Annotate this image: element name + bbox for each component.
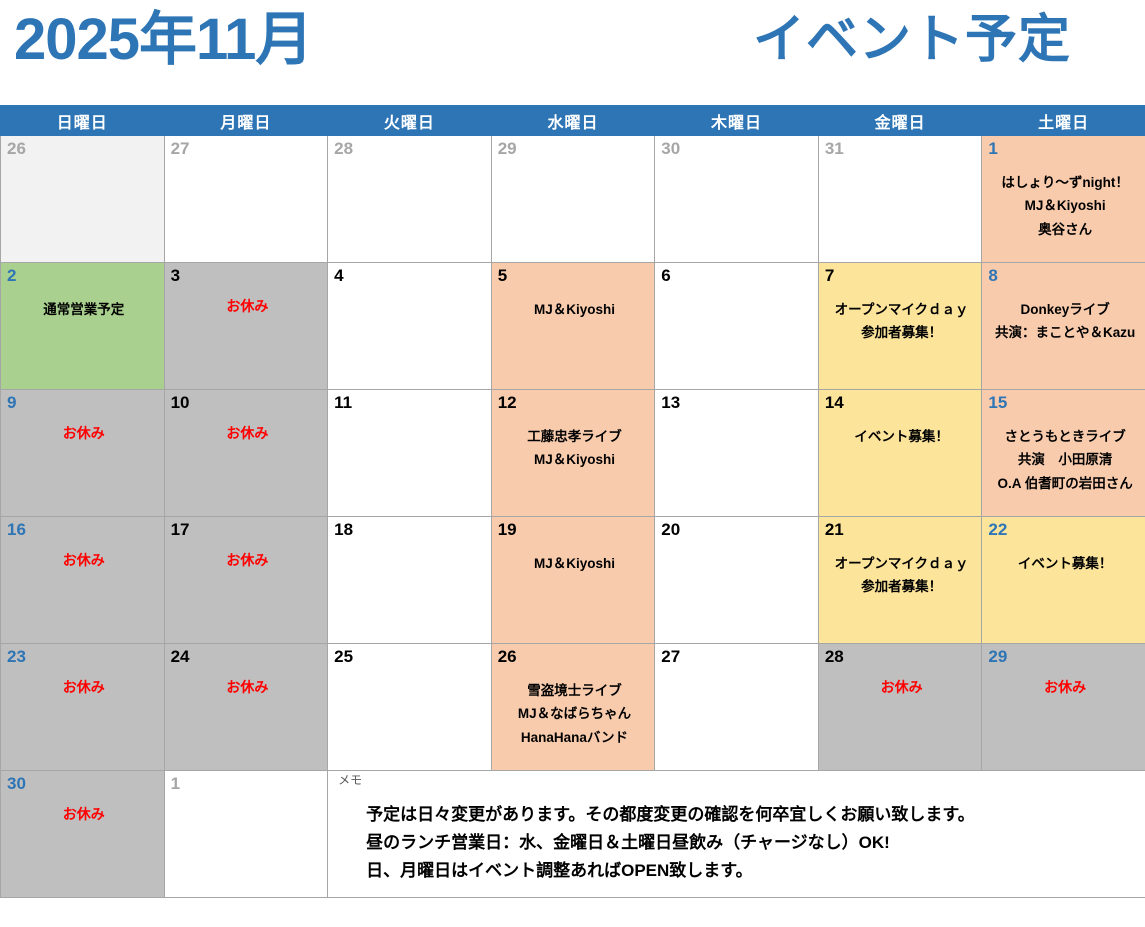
day-number: 8	[988, 267, 1142, 285]
event-line: MJ＆Kiyoshi	[500, 448, 650, 472]
weekday-header-1: 月曜日	[164, 106, 328, 136]
day-cell-14[interactable]: 14イベント募集！	[818, 390, 982, 517]
calendar-week-row: 2627282930311はしょり〜ずnight！MJ＆Kiyoshi奥谷さん	[1, 136, 1145, 263]
weekday-header-2: 火曜日	[328, 106, 492, 136]
day-cell-7[interactable]: 7オープンマイクｄａｙ参加者募集！	[818, 263, 982, 390]
event-line: MJ＆Kiyoshi	[500, 298, 650, 322]
event-line: 工藤忠孝ライブ	[500, 425, 650, 449]
day-cell-1[interactable]: 1	[164, 771, 328, 898]
day-cell-18[interactable]: 18	[328, 517, 492, 644]
memo-label: メモ	[338, 773, 1141, 787]
calendar-week-row: 23お休み24お休み2526雪盗境士ライブMJ＆なばらちゃんHanaHanaバン…	[1, 644, 1145, 771]
day-events: お休み	[7, 548, 161, 573]
event-line: MJ＆なばらちゃん	[500, 702, 650, 726]
rest-label: お休み	[173, 294, 323, 319]
day-cell-23[interactable]: 23お休み	[1, 644, 165, 771]
day-number: 29	[988, 648, 1142, 666]
day-cell-29[interactable]: 29	[491, 136, 655, 263]
day-number: 23	[7, 648, 161, 666]
day-cell-11[interactable]: 11	[328, 390, 492, 517]
event-line: 参加者募集！	[827, 575, 977, 599]
event-line: イベント募集！	[990, 552, 1140, 576]
day-events: お休み	[171, 548, 325, 573]
event-line: 共演：まことや＆Kazu	[990, 321, 1140, 345]
day-number: 29	[498, 140, 652, 158]
event-line: 雪盗境士ライブ	[500, 679, 650, 703]
rest-label: お休み	[9, 548, 159, 573]
day-events: 工藤忠孝ライブMJ＆Kiyoshi	[498, 425, 652, 472]
day-cell-30[interactable]: 30	[655, 136, 819, 263]
calendar-week-row: 16お休み17お休み1819MJ＆Kiyoshi2021オープンマイクｄａｙ参加…	[1, 517, 1145, 644]
day-cell-28[interactable]: 28お休み	[818, 644, 982, 771]
day-cell-9[interactable]: 9お休み	[1, 390, 165, 517]
rest-label: お休み	[173, 421, 323, 446]
day-cell-21[interactable]: 21オープンマイクｄａｙ参加者募集！	[818, 517, 982, 644]
calendar-grid: 日曜日月曜日火曜日水曜日木曜日金曜日土曜日 2627282930311はしょり〜…	[0, 105, 1145, 898]
day-number: 26	[7, 140, 161, 158]
event-line: MJ＆Kiyoshi	[500, 552, 650, 576]
event-line: 共演 小田原清	[990, 448, 1140, 472]
memo-body: 予定は日々変更があります。その都度変更の確認を何卒宜しくお願い致します。昼のラン…	[338, 801, 1141, 885]
event-line: Donkeyライブ	[990, 298, 1140, 322]
day-cell-27[interactable]: 27	[655, 644, 819, 771]
day-cell-20[interactable]: 20	[655, 517, 819, 644]
day-number: 18	[334, 521, 488, 539]
day-events: お休み	[7, 675, 161, 700]
page-title-month: 2025年11月	[14, 8, 312, 72]
weekday-header-6: 土曜日	[982, 106, 1145, 136]
day-number: 11	[334, 394, 488, 412]
day-cell-31[interactable]: 31	[818, 136, 982, 263]
rest-label: お休み	[173, 675, 323, 700]
day-number: 3	[171, 267, 325, 285]
calendar-week-row: 2通常営業予定3お休み45MJ＆Kiyoshi67オープンマイクｄａｙ参加者募集…	[1, 263, 1145, 390]
day-number: 14	[825, 394, 979, 412]
day-cell-28[interactable]: 28	[328, 136, 492, 263]
day-cell-8[interactable]: 8Donkeyライブ共演：まことや＆Kazu	[982, 263, 1145, 390]
day-cell-26[interactable]: 26	[1, 136, 165, 263]
day-cell-13[interactable]: 13	[655, 390, 819, 517]
day-cell-1[interactable]: 1はしょり〜ずnight！MJ＆Kiyoshi奥谷さん	[982, 136, 1145, 263]
day-cell-2[interactable]: 2通常営業予定	[1, 263, 165, 390]
day-events: Donkeyライブ共演：まことや＆Kazu	[988, 298, 1142, 345]
day-number: 15	[988, 394, 1142, 412]
event-line: 奥谷さん	[990, 218, 1140, 242]
memo-cell[interactable]: メモ予定は日々変更があります。その都度変更の確認を何卒宜しくお願い致します。昼の…	[328, 771, 1145, 898]
event-line: 通常営業予定	[9, 298, 159, 322]
event-line: オープンマイクｄａｙ	[827, 298, 977, 322]
day-cell-26[interactable]: 26雪盗境士ライブMJ＆なばらちゃんHanaHanaバンド	[491, 644, 655, 771]
page-header: 2025年11月 イベント予定	[0, 0, 1145, 105]
day-cell-15[interactable]: 15さとうもときライブ共演 小田原清O.A 伯耆町の岩田さん	[982, 390, 1145, 517]
event-line: さとうもときライブ	[990, 425, 1140, 449]
day-number: 7	[825, 267, 979, 285]
day-number: 22	[988, 521, 1142, 539]
weekday-header-3: 水曜日	[491, 106, 655, 136]
day-events: オープンマイクｄａｙ参加者募集！	[825, 298, 979, 345]
day-number: 1	[171, 775, 325, 793]
day-events: お休み	[171, 294, 325, 319]
day-number: 5	[498, 267, 652, 285]
day-number: 1	[988, 140, 1142, 158]
weekday-header-4: 木曜日	[655, 106, 819, 136]
rest-label: お休み	[9, 802, 159, 827]
memo-line: 日、月曜日はイベント調整あればOPEN致します。	[366, 857, 1141, 885]
calendar-page: 2025年11月 イベント予定 日曜日月曜日火曜日水曜日木曜日金曜日土曜日 26…	[0, 0, 1145, 927]
calendar-last-row: 30お休み1メモ予定は日々変更があります。その都度変更の確認を何卒宜しくお願い致…	[1, 771, 1145, 898]
rest-label: お休み	[990, 675, 1140, 700]
day-number: 21	[825, 521, 979, 539]
day-cell-30[interactable]: 30お休み	[1, 771, 165, 898]
event-line: イベント募集！	[827, 425, 977, 449]
day-events: 通常営業予定	[7, 298, 161, 322]
day-cell-22[interactable]: 22イベント募集！	[982, 517, 1145, 644]
day-cell-29[interactable]: 29お休み	[982, 644, 1145, 771]
day-cell-24[interactable]: 24お休み	[164, 644, 328, 771]
day-number: 30	[661, 140, 815, 158]
day-number: 2	[7, 267, 161, 285]
day-number: 4	[334, 267, 488, 285]
day-number: 16	[7, 521, 161, 539]
day-events: オープンマイクｄａｙ参加者募集！	[825, 552, 979, 599]
day-number: 31	[825, 140, 979, 158]
rest-label: お休み	[173, 548, 323, 573]
day-cell-17[interactable]: 17お休み	[164, 517, 328, 644]
event-line: O.A 伯耆町の岩田さん	[990, 472, 1140, 496]
day-events: お休み	[825, 675, 979, 700]
page-title-event: イベント予定	[753, 12, 1071, 69]
event-line: はしょり〜ずnight！	[990, 171, 1140, 195]
day-cell-4[interactable]: 4	[328, 263, 492, 390]
day-cell-5[interactable]: 5MJ＆Kiyoshi	[491, 263, 655, 390]
rest-label: お休み	[9, 675, 159, 700]
day-events: イベント募集！	[988, 552, 1142, 576]
day-number: 30	[7, 775, 161, 793]
day-cell-19[interactable]: 19MJ＆Kiyoshi	[491, 517, 655, 644]
day-events: お休み	[7, 802, 161, 827]
day-cell-16[interactable]: 16お休み	[1, 517, 165, 644]
rest-label: お休み	[9, 421, 159, 446]
day-cell-10[interactable]: 10お休み	[164, 390, 328, 517]
calendar-week-row: 9お休み10お休み1112工藤忠孝ライブMJ＆Kiyoshi1314イベント募集…	[1, 390, 1145, 517]
day-events: イベント募集！	[825, 425, 979, 449]
day-number: 6	[661, 267, 815, 285]
day-number: 20	[661, 521, 815, 539]
calendar-header-row: 日曜日月曜日火曜日水曜日木曜日金曜日土曜日	[1, 106, 1145, 136]
day-number: 19	[498, 521, 652, 539]
day-number: 27	[171, 140, 325, 158]
event-line: MJ＆Kiyoshi	[990, 194, 1140, 218]
day-number: 9	[7, 394, 161, 412]
day-events: お休み	[988, 675, 1142, 700]
day-number: 10	[171, 394, 325, 412]
day-events: お休み	[171, 421, 325, 446]
day-cell-27[interactable]: 27	[164, 136, 328, 263]
day-number: 26	[498, 648, 652, 666]
calendar-body: 2627282930311はしょり〜ずnight！MJ＆Kiyoshi奥谷さん2…	[1, 136, 1145, 898]
day-cell-25[interactable]: 25	[328, 644, 492, 771]
event-line: オープンマイクｄａｙ	[827, 552, 977, 576]
day-number: 12	[498, 394, 652, 412]
day-events: MJ＆Kiyoshi	[498, 552, 652, 576]
event-line: 参加者募集！	[827, 321, 977, 345]
day-number: 28	[825, 648, 979, 666]
day-events: お休み	[171, 675, 325, 700]
weekday-header-5: 金曜日	[818, 106, 982, 136]
weekday-header-0: 日曜日	[1, 106, 165, 136]
day-number: 28	[334, 140, 488, 158]
day-number: 27	[661, 648, 815, 666]
day-number: 17	[171, 521, 325, 539]
day-events: さとうもときライブ共演 小田原清O.A 伯耆町の岩田さん	[988, 425, 1142, 496]
memo-line: 昼のランチ営業日：水、金曜日＆土曜日昼飲み（チャージなし）OK!	[366, 829, 1141, 857]
day-events: はしょり〜ずnight！MJ＆Kiyoshi奥谷さん	[988, 171, 1142, 242]
event-line: HanaHanaバンド	[500, 726, 650, 750]
day-cell-6[interactable]: 6	[655, 263, 819, 390]
day-cell-3[interactable]: 3お休み	[164, 263, 328, 390]
day-number: 24	[171, 648, 325, 666]
memo-line: 予定は日々変更があります。その都度変更の確認を何卒宜しくお願い致します。	[366, 801, 1141, 829]
day-number: 13	[661, 394, 815, 412]
day-events: 雪盗境士ライブMJ＆なばらちゃんHanaHanaバンド	[498, 679, 652, 750]
day-events: お休み	[7, 421, 161, 446]
day-cell-12[interactable]: 12工藤忠孝ライブMJ＆Kiyoshi	[491, 390, 655, 517]
day-events: MJ＆Kiyoshi	[498, 298, 652, 322]
day-number: 25	[334, 648, 488, 666]
rest-label: お休み	[827, 675, 977, 700]
